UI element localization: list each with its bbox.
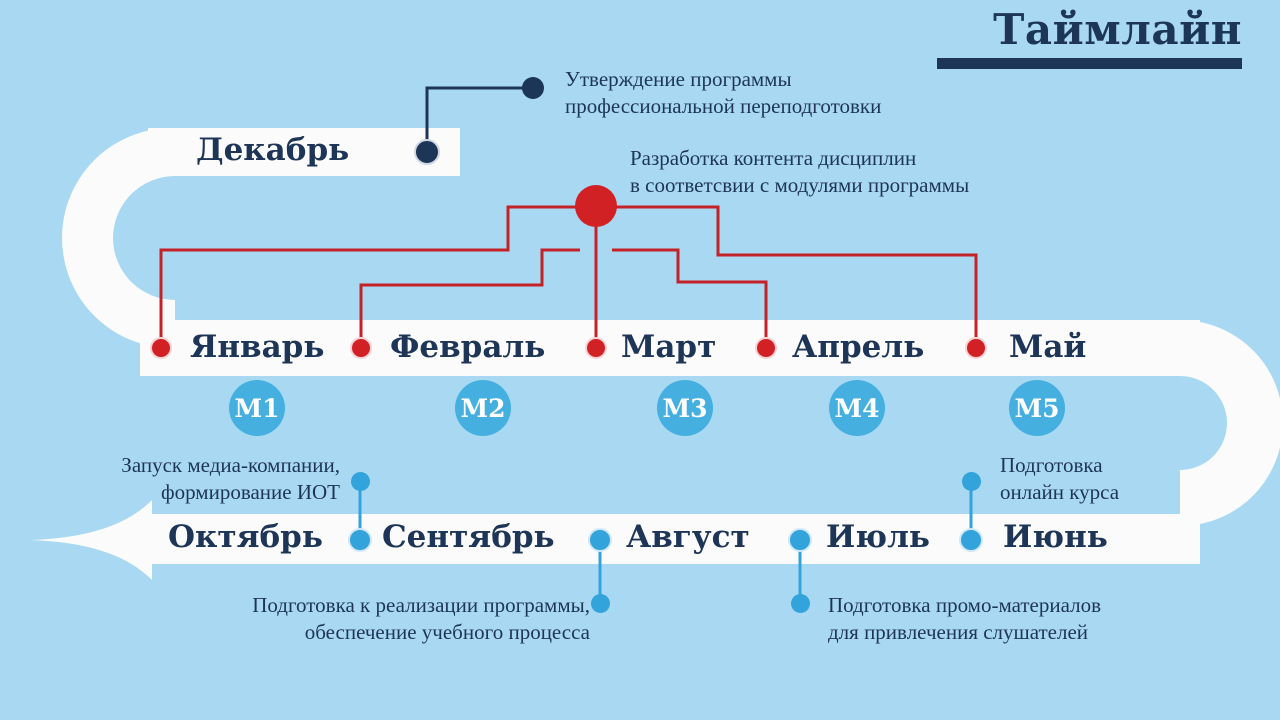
callout-december: Утверждение программы профессиональной п… — [565, 66, 881, 120]
blue-dot-callout-promo[interactable] — [791, 594, 810, 613]
blue-dot-callout-implementation[interactable] — [591, 594, 610, 613]
red-dot-marker-april[interactable] — [755, 337, 777, 359]
red-dot-marker-january[interactable] — [150, 337, 172, 359]
month-label-december[interactable]: Декабрь — [196, 135, 349, 166]
month-label-april[interactable]: Апрель — [792, 332, 924, 363]
month-label-february[interactable]: Февраль — [390, 332, 545, 363]
blue-dot-marker-august[interactable] — [788, 528, 812, 552]
red-dot-marker-february[interactable] — [350, 337, 372, 359]
navy-dot-marker-december[interactable] — [414, 139, 440, 165]
milestone-badge-m3[interactable]: M3 — [657, 380, 713, 436]
callout-online-course: Подготовка онлайн курса — [1000, 452, 1260, 506]
red-dot-marker-march[interactable] — [585, 337, 607, 359]
milestone-badge-m1[interactable]: M1 — [229, 380, 285, 436]
blue-dot-callout-media-launch[interactable] — [351, 472, 370, 491]
milestone-badge-m5[interactable]: M5 — [1009, 380, 1065, 436]
red-dot-marker-may[interactable] — [965, 337, 987, 359]
blue-dot-marker-july[interactable] — [959, 528, 983, 552]
title-underline — [937, 58, 1242, 69]
milestone-badge-m2[interactable]: M2 — [455, 380, 511, 436]
month-label-may[interactable]: Май — [1009, 332, 1086, 363]
hub-dot-content-development[interactable] — [575, 185, 617, 227]
month-label-june[interactable]: Июнь — [1003, 522, 1108, 553]
month-label-january[interactable]: Январь — [190, 332, 324, 363]
blue-dot-callout-online-course[interactable] — [962, 472, 981, 491]
page-title: Таймлайн — [937, 8, 1242, 69]
month-label-march[interactable]: Март — [621, 332, 716, 363]
month-label-august[interactable]: Август — [626, 522, 750, 553]
blue-dot-marker-september[interactable] — [588, 528, 612, 552]
callout-media-launch: Запуск медиа-компании, формирование ИОТ — [40, 452, 340, 506]
title-text: Таймлайн — [937, 8, 1242, 52]
month-label-october[interactable]: Октябрь — [168, 522, 323, 553]
timeline-infographic: Таймлайн Декабрь Утверждение программы п… — [0, 0, 1280, 720]
callout-promo: Подготовка промо-материалов для привлече… — [828, 592, 1248, 646]
milestone-badge-m4[interactable]: M4 — [829, 380, 885, 436]
month-label-september[interactable]: Сентябрь — [382, 522, 555, 553]
callout-implementation: Подготовка к реализации программы, обесп… — [130, 592, 590, 646]
blue-dot-marker-october[interactable] — [348, 528, 372, 552]
callout-content-development: Разработка контента дисциплин в соответс… — [630, 145, 969, 199]
month-label-july[interactable]: Июль — [826, 522, 930, 553]
